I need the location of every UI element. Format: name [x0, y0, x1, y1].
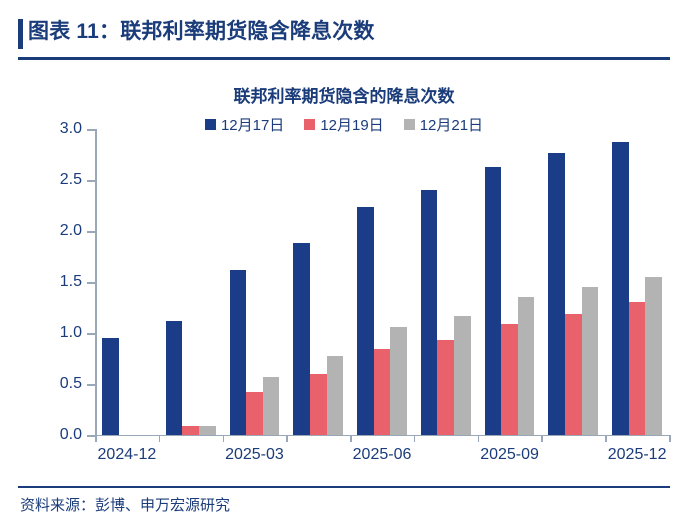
bar-group-inner — [612, 129, 662, 435]
footer-divider — [18, 486, 670, 488]
bar[interactable] — [246, 392, 263, 435]
x-axis-tick — [541, 435, 543, 442]
bar-group — [166, 129, 216, 435]
bar[interactable] — [612, 142, 629, 435]
bar-group — [293, 129, 343, 435]
bar[interactable] — [501, 324, 518, 435]
bar-group-inner — [102, 129, 152, 435]
y-axis-line — [95, 129, 97, 435]
bar[interactable] — [390, 327, 407, 435]
bar-group — [230, 129, 280, 435]
bar-group — [612, 129, 662, 435]
bar-group-inner — [357, 129, 407, 435]
bar[interactable] — [421, 190, 438, 435]
bar-group-inner — [421, 129, 471, 435]
y-axis-tick-label: 3.0 — [34, 120, 82, 138]
bar-group — [485, 129, 535, 435]
bar[interactable] — [485, 167, 502, 435]
x-axis-tick — [605, 435, 607, 442]
x-axis-tick-label: 2025-12 — [608, 446, 667, 464]
y-axis-tick — [87, 231, 95, 233]
bar[interactable] — [230, 270, 247, 435]
bar[interactable] — [582, 287, 599, 435]
y-axis-tick-label: 2.5 — [34, 171, 82, 189]
bar[interactable] — [182, 426, 199, 435]
bar[interactable] — [199, 426, 216, 435]
x-axis-tick-label: 2024-12 — [98, 446, 157, 464]
x-axis-tick-label: 2025-06 — [353, 446, 412, 464]
bar[interactable] — [327, 356, 344, 435]
y-axis-tick — [87, 333, 95, 335]
bar[interactable] — [565, 314, 582, 435]
bar[interactable] — [454, 316, 471, 435]
x-axis-tick — [669, 435, 671, 442]
bar[interactable] — [548, 153, 565, 435]
bar[interactable] — [293, 243, 310, 435]
bar[interactable] — [645, 277, 662, 435]
x-axis-tick — [350, 435, 352, 442]
bar-group — [548, 129, 598, 435]
bar-group-inner — [166, 129, 216, 435]
bar-group-inner — [548, 129, 598, 435]
y-axis-tick — [87, 384, 95, 386]
source-note: 资料来源：彭博、申万宏源研究 — [20, 494, 230, 515]
y-axis-tick — [87, 282, 95, 284]
bar[interactable] — [437, 340, 454, 435]
x-axis-tick-label: 2025-03 — [225, 446, 284, 464]
y-axis-tick — [87, 180, 95, 182]
y-axis-tick-label: 0.0 — [34, 426, 82, 444]
bar[interactable] — [629, 302, 646, 435]
y-axis-tick-label: 2.0 — [34, 222, 82, 240]
y-axis-tick — [87, 129, 95, 131]
bar-group — [102, 129, 152, 435]
bar[interactable] — [102, 338, 119, 435]
x-axis-tick — [95, 435, 97, 442]
x-axis-tick — [478, 435, 480, 442]
y-axis-tick-label: 1.0 — [34, 324, 82, 342]
bar[interactable] — [310, 374, 327, 435]
bar-group — [357, 129, 407, 435]
x-axis-tick — [414, 435, 416, 442]
x-axis-tick-label: 2025-09 — [480, 446, 539, 464]
y-axis-tick-label: 0.5 — [34, 375, 82, 393]
bar[interactable] — [263, 377, 280, 435]
x-axis-tick — [286, 435, 288, 442]
bar[interactable] — [166, 321, 183, 435]
bar-group-inner — [230, 129, 280, 435]
bar[interactable] — [357, 207, 374, 435]
bar[interactable] — [374, 349, 391, 435]
bar-group-inner — [485, 129, 535, 435]
bar-group-inner — [293, 129, 343, 435]
y-axis-tick-label: 1.5 — [34, 273, 82, 291]
bar[interactable] — [518, 297, 535, 435]
y-axis-tick — [87, 435, 95, 437]
chart-plot-area: 0.00.51.01.52.02.53.02024-122025-032025-… — [0, 0, 688, 480]
x-axis-tick — [223, 435, 225, 442]
bar-group — [421, 129, 471, 435]
x-axis-tick — [159, 435, 161, 442]
